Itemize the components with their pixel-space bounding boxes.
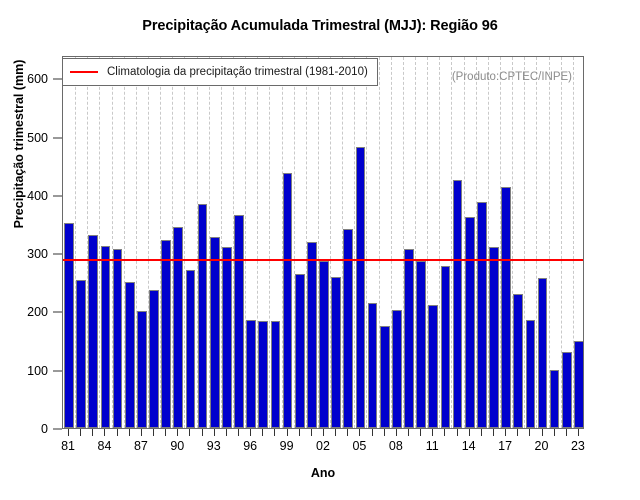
x-tick-mark [68, 429, 69, 436]
x-tick-label: 99 [280, 439, 294, 453]
x-tick-mark [517, 429, 518, 436]
bar [113, 249, 123, 428]
x-tick-mark [274, 429, 275, 436]
x-tick-mark [92, 429, 93, 436]
bar [246, 320, 256, 428]
x-tick-mark [153, 429, 154, 436]
bar [64, 223, 74, 428]
legend-line-swatch-icon [70, 71, 98, 73]
bar [441, 266, 451, 428]
x-tick-mark [250, 429, 251, 436]
x-tick-mark [493, 429, 494, 436]
x-tick-label: 23 [571, 439, 585, 453]
x-tick-label: 90 [170, 439, 184, 453]
x-tick-mark [384, 429, 385, 436]
x-tick-mark [129, 429, 130, 436]
y-axis-label: Precipitação trimestral (mm) [12, 0, 26, 294]
y-tick-label: 600 [27, 72, 48, 86]
y-tick-mark [53, 79, 62, 80]
x-tick-mark [335, 429, 336, 436]
bar [173, 227, 183, 428]
y-tick-label: 200 [27, 305, 48, 319]
x-tick-mark [117, 429, 118, 436]
x-tick-mark [457, 429, 458, 436]
x-tick-mark [505, 429, 506, 436]
bars-layer [63, 57, 583, 428]
bar [222, 247, 232, 428]
x-tick-label: 14 [462, 439, 476, 453]
x-tick-mark [299, 429, 300, 436]
x-tick-mark [226, 429, 227, 436]
bar [125, 282, 135, 428]
x-tick-mark [372, 429, 373, 436]
x-tick-mark [287, 429, 288, 436]
bar [489, 247, 499, 428]
bar [477, 202, 487, 428]
bar [356, 147, 366, 428]
x-tick-mark [347, 429, 348, 436]
x-tick-mark [262, 429, 263, 436]
x-tick-label: 96 [243, 439, 257, 453]
x-tick-mark [420, 429, 421, 436]
y-axis: 0100200300400500600 [0, 56, 62, 429]
x-tick-label: 08 [389, 439, 403, 453]
x-tick-mark [238, 429, 239, 436]
bar [210, 237, 220, 428]
product-credit-annotation: (Produto:CPTEC/INPE) [452, 71, 572, 83]
bar [331, 277, 341, 428]
bar [574, 341, 584, 428]
bar [258, 321, 268, 428]
bar [428, 305, 438, 428]
x-tick-mark [311, 429, 312, 436]
x-tick-mark [542, 429, 543, 436]
bar [526, 320, 536, 428]
bar [198, 204, 208, 428]
x-tick-mark [396, 429, 397, 436]
x-tick-mark [566, 429, 567, 436]
bar [295, 274, 305, 428]
y-tick-mark [53, 254, 62, 255]
x-tick-mark [432, 429, 433, 436]
y-tick-label: 400 [27, 189, 48, 203]
bar [550, 370, 560, 428]
x-tick-mark [214, 429, 215, 436]
x-tick-label: 05 [352, 439, 366, 453]
bar [88, 235, 98, 428]
x-tick-label: 02 [316, 439, 330, 453]
y-tick-mark [53, 312, 62, 313]
bar [137, 311, 147, 428]
bar [271, 321, 281, 428]
x-tick-label: 93 [207, 439, 221, 453]
x-tick-label: 81 [61, 439, 75, 453]
x-tick-label: 84 [98, 439, 112, 453]
bar [149, 290, 159, 428]
plot-area [62, 56, 584, 429]
y-tick-label: 500 [27, 131, 48, 145]
x-tick-mark [444, 429, 445, 436]
bar [513, 294, 523, 428]
x-tick-label: 17 [498, 439, 512, 453]
x-tick-mark [554, 429, 555, 436]
x-tick-mark [189, 429, 190, 436]
bar [307, 242, 317, 429]
x-tick-mark [323, 429, 324, 436]
bar [380, 326, 390, 428]
x-tick-mark [529, 429, 530, 436]
bar [453, 180, 463, 428]
x-tick-label: 11 [426, 439, 439, 453]
bar [319, 261, 329, 428]
bar [416, 261, 426, 428]
x-tick-mark [469, 429, 470, 436]
x-tick-mark [165, 429, 166, 436]
y-tick-label: 300 [27, 247, 48, 261]
bar [76, 280, 86, 428]
x-axis: 818487909396990205081114172023 [62, 429, 584, 469]
x-tick-mark [141, 429, 142, 436]
bar [562, 352, 572, 428]
y-tick-mark [53, 195, 62, 196]
bar [392, 310, 402, 428]
x-tick-mark [578, 429, 579, 436]
page-title: Precipitação Acumulada Trimestral (MJJ):… [0, 18, 640, 34]
y-tick-mark [53, 137, 62, 138]
x-tick-label: 87 [134, 439, 148, 453]
x-tick-mark [359, 429, 360, 436]
y-tick-mark [53, 370, 62, 371]
bar [234, 215, 244, 428]
bar [186, 270, 196, 428]
climatology-reference-line [63, 259, 583, 261]
bar [161, 240, 171, 428]
y-tick-mark [53, 429, 62, 430]
bar [283, 173, 293, 428]
x-tick-label: 20 [535, 439, 549, 453]
x-axis-label: Ano [62, 466, 584, 480]
y-tick-label: 0 [41, 422, 48, 436]
x-tick-mark [80, 429, 81, 436]
y-tick-label: 100 [27, 364, 48, 378]
bar [465, 217, 475, 428]
bar [404, 249, 414, 428]
bar [538, 278, 548, 428]
chart-figure: Precipitação Acumulada Trimestral (MJJ):… [0, 0, 640, 500]
x-tick-mark [202, 429, 203, 436]
x-tick-mark [481, 429, 482, 436]
x-tick-mark [104, 429, 105, 436]
x-tick-mark [177, 429, 178, 436]
legend-label: Climatologia da precipitação trimestral … [107, 66, 368, 78]
bar [368, 303, 378, 428]
x-tick-mark [408, 429, 409, 436]
legend: Climatologia da precipitação trimestral … [62, 58, 378, 86]
bar [101, 246, 111, 428]
bar [501, 187, 511, 428]
